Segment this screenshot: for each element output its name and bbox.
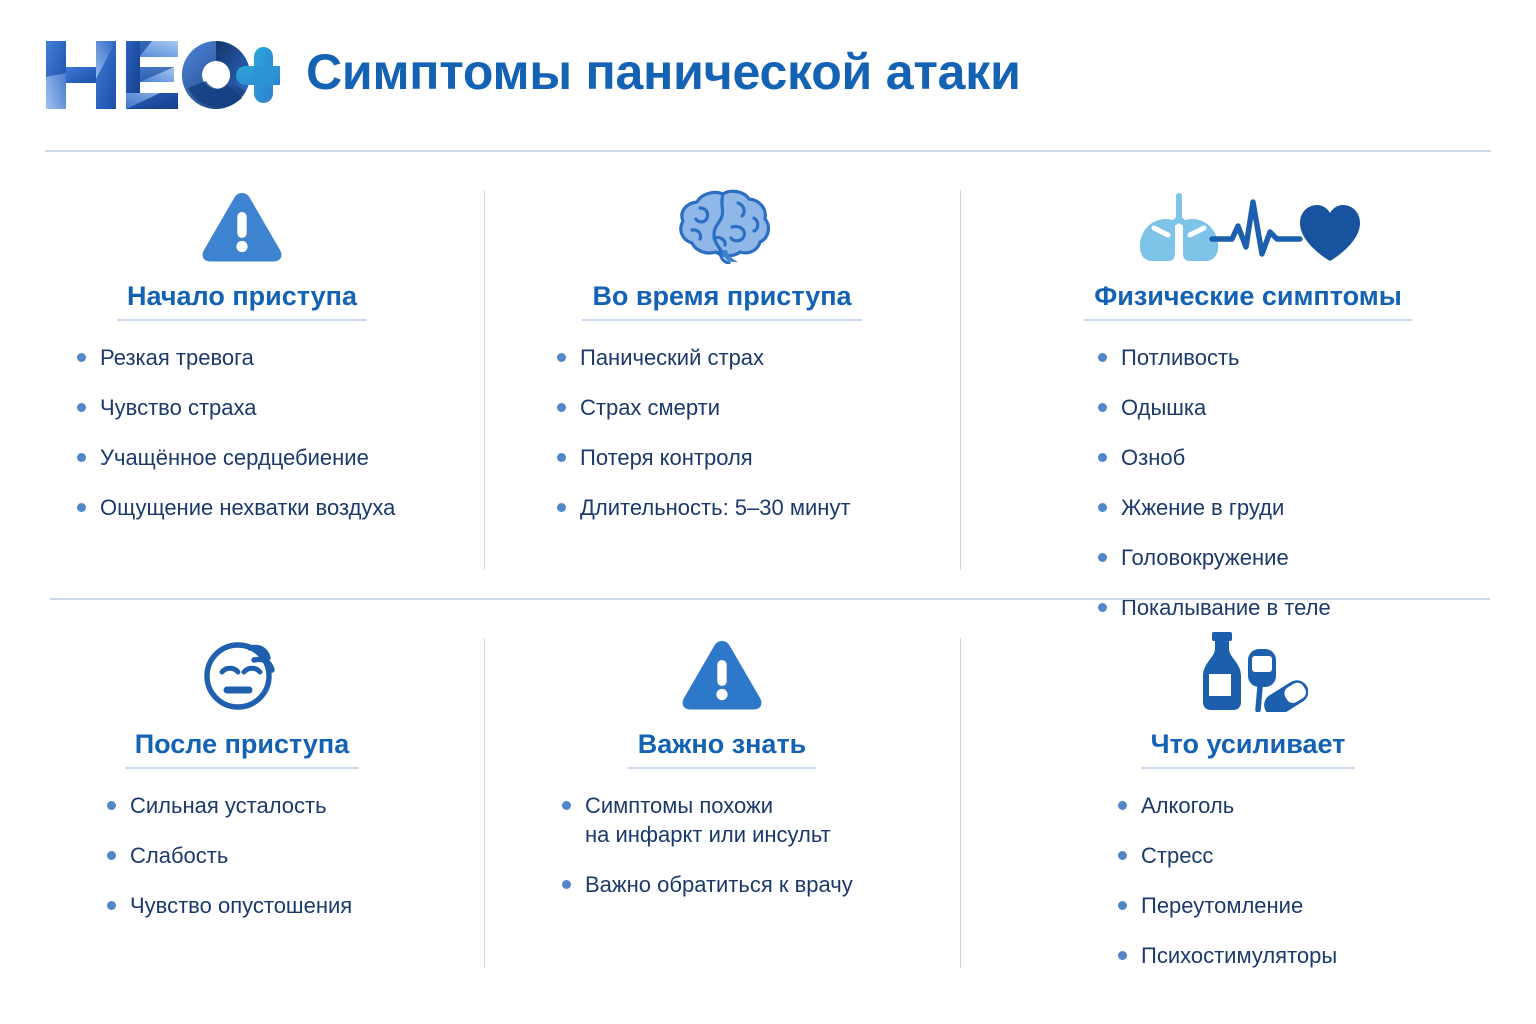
bullet-dot — [557, 503, 566, 512]
bullet-dot — [1098, 553, 1107, 562]
symptom-list: Резкая тревога Чувство страха Учащённое … — [77, 343, 407, 522]
card-vo-vremya-pristupa[interactable]: Во время приступа Панический страх Страх… — [484, 160, 960, 598]
bullet-dot — [562, 880, 571, 889]
bullet-dot — [557, 453, 566, 462]
bullet-dot — [107, 801, 116, 810]
list-item: Психостимуляторы — [1118, 941, 1378, 970]
bottle-syringe-pill-icon — [1188, 626, 1308, 712]
bullet-dot — [1098, 403, 1107, 412]
symptom-list: Панический страх Страх смерти Потеря кон… — [557, 343, 887, 522]
page-header: Симптомы панической атаки — [0, 0, 1536, 150]
list-item: Одышка — [1098, 393, 1398, 422]
bullet-dot — [77, 503, 86, 512]
bullet-dot — [1118, 951, 1127, 960]
cards-row-bottom: После приступа Сильная усталость Слабост… — [0, 608, 1536, 1000]
cards-grid: Начало приступа Резкая тревога Чувство с… — [0, 160, 1536, 1000]
lungs-ecg-heart-icon — [1132, 178, 1364, 264]
list-item: Резкая тревога — [77, 343, 407, 372]
bullet-dot — [1098, 353, 1107, 362]
card-vazhno-znat[interactable]: Важно знать Симптомы похожи на инфаркт и… — [484, 608, 960, 1000]
list-item: Стресс — [1118, 841, 1378, 870]
bullet-dot — [557, 353, 566, 362]
warning-triangle-icon — [680, 626, 764, 712]
bullet-dot — [77, 353, 86, 362]
bullet-dot — [1118, 801, 1127, 810]
list-item: Чувство опустошения — [107, 891, 377, 920]
bullet-dot — [77, 453, 86, 462]
list-item: Чувство страха — [77, 393, 407, 422]
list-item: Ощущение нехватки воздуха — [77, 493, 407, 522]
tired-face-icon — [196, 626, 288, 712]
list-item: Учащённое сердцебиение — [77, 443, 407, 472]
bullet-dot — [1118, 901, 1127, 910]
list-item: Потеря контроля — [557, 443, 887, 472]
cards-row-top: Начало приступа Резкая тревога Чувство с… — [0, 160, 1536, 598]
bullet-dot — [107, 901, 116, 910]
bullet-dot — [1098, 453, 1107, 462]
list-item: Жжение в груди — [1098, 493, 1398, 522]
card-fizicheskie-simptomy[interactable]: Физические симптомы Потливость Одышка Оз… — [960, 160, 1536, 598]
brain-icon — [670, 178, 774, 264]
list-item: Переутомление — [1118, 891, 1378, 920]
list-item: Симптомы похожи на инфаркт или инсульт — [562, 791, 882, 849]
bullet-dot — [77, 403, 86, 412]
list-item: Алкоголь — [1118, 791, 1378, 820]
bullet-dot — [1118, 851, 1127, 860]
symptom-list: Сильная усталость Слабость Чувство опуст… — [107, 791, 377, 920]
symptom-list: Алкоголь Стресс Переутомление Психостиму… — [1118, 791, 1378, 970]
bullet-dot — [562, 801, 571, 810]
list-item: Потливость — [1098, 343, 1398, 372]
bullet-dot — [107, 851, 116, 860]
list-item: Длительность: 5–30 минут — [557, 493, 887, 522]
card-title: Важно знать — [628, 730, 817, 769]
card-title: Во время приступа — [582, 282, 861, 321]
card-title: Физические симптомы — [1084, 282, 1412, 321]
neo-plus-logo — [40, 33, 280, 117]
bullet-dot — [557, 403, 566, 412]
list-item: Головокружение — [1098, 543, 1398, 572]
list-item: Слабость — [107, 841, 377, 870]
list-item: Важно обратиться к врачу — [562, 870, 882, 899]
card-posle-pristupa[interactable]: После приступа Сильная усталость Слабост… — [0, 608, 484, 1000]
card-title: Начало приступа — [117, 282, 367, 321]
list-item: Панический страх — [557, 343, 887, 372]
header-divider — [45, 150, 1491, 152]
warning-triangle-icon — [200, 178, 284, 264]
list-item: Страх смерти — [557, 393, 887, 422]
card-chto-usilivaet[interactable]: Что усиливает Алкоголь Стресс Переутомле… — [960, 608, 1536, 1000]
list-item: Сильная усталость — [107, 791, 377, 820]
card-title: Что усиливает — [1141, 730, 1356, 769]
bullet-dot — [1098, 503, 1107, 512]
page-title: Симптомы панической атаки — [306, 47, 1021, 103]
symptom-list: Потливость Одышка Озноб Жжение в груди Г… — [1098, 343, 1398, 622]
list-item: Озноб — [1098, 443, 1398, 472]
row-divider — [50, 598, 1490, 600]
card-title: После приступа — [125, 730, 360, 769]
symptom-list: Симптомы похожи на инфаркт или инсульт В… — [562, 791, 882, 899]
card-nachalo-pristupa[interactable]: Начало приступа Резкая тревога Чувство с… — [0, 160, 484, 598]
